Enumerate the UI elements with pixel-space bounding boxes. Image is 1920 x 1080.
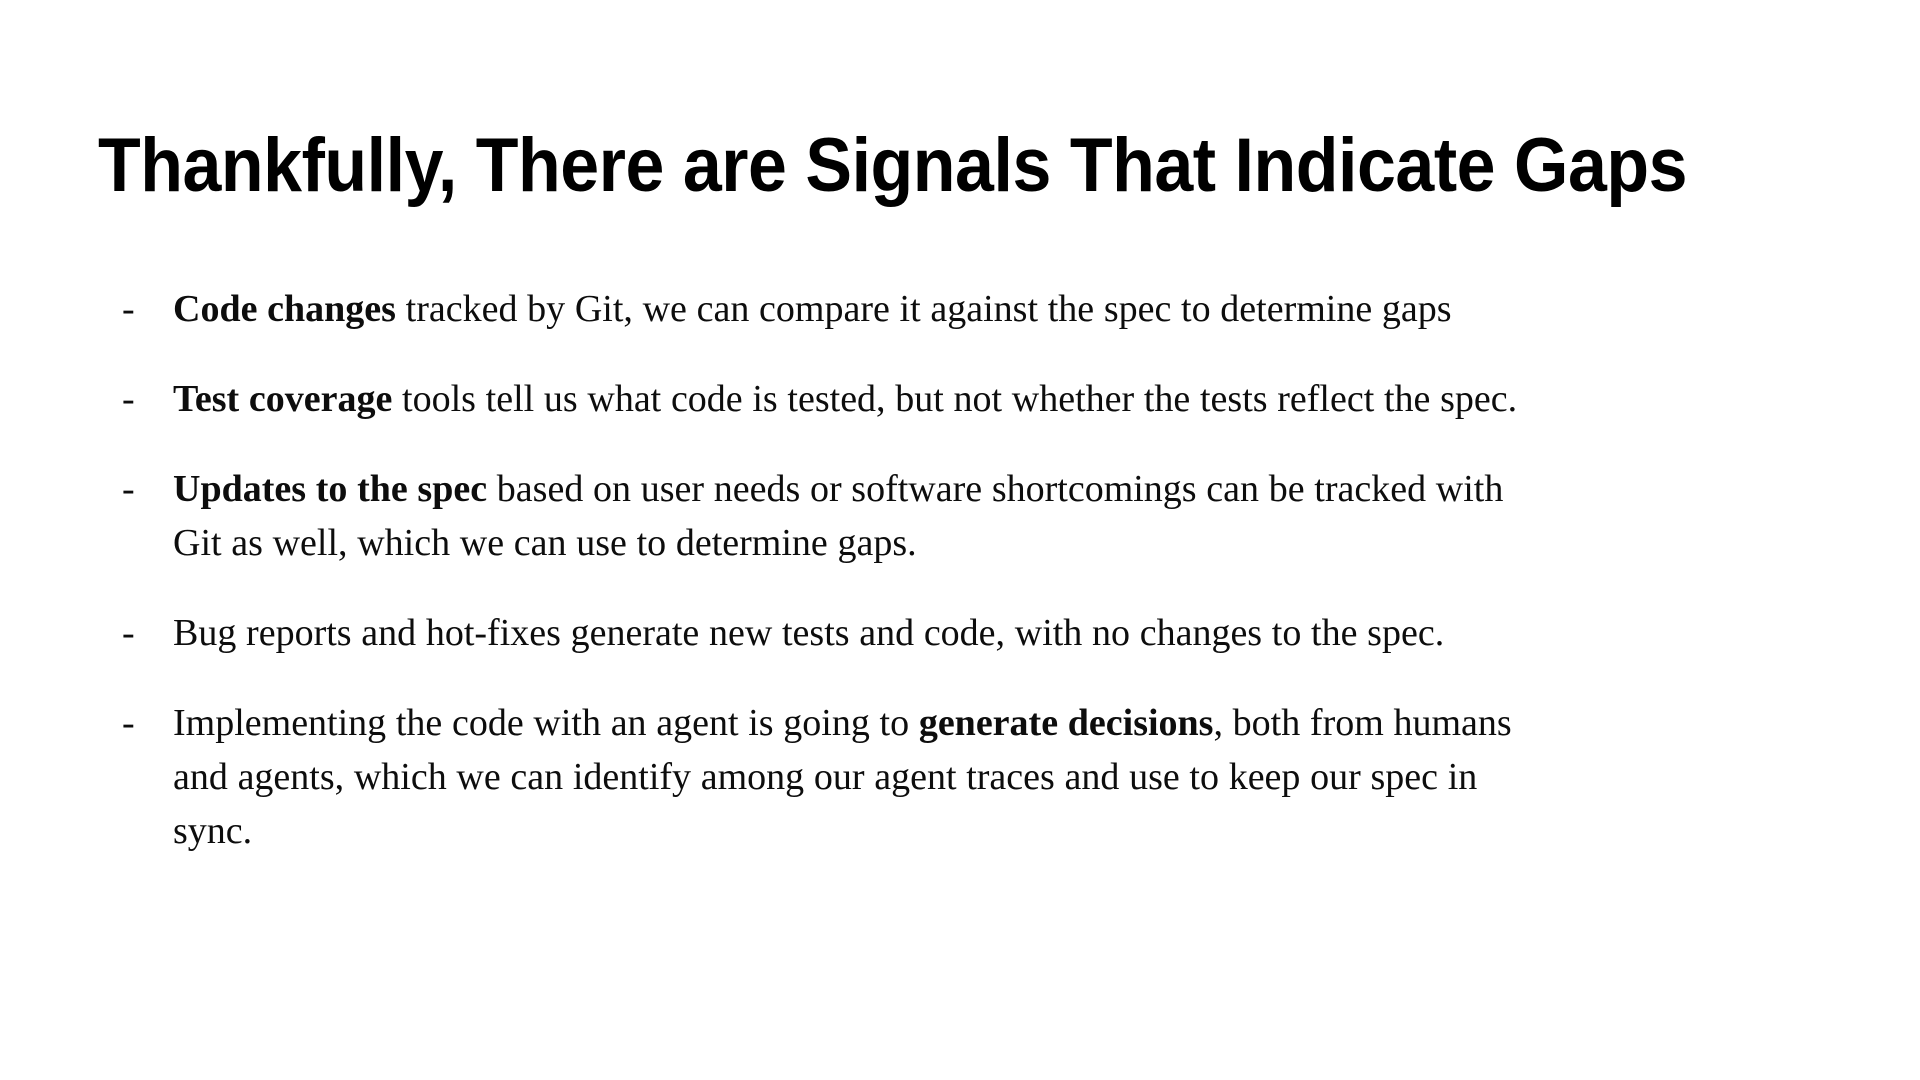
list-item-text: Code changes tracked by Git, we can comp…: [173, 282, 1518, 336]
bullet-dash-icon: -: [120, 282, 173, 336]
list-item-emphasis: generate decisions: [919, 702, 1214, 744]
bullet-list: -Code changes tracked by Git, we can com…: [120, 282, 1820, 858]
bullet-dash-icon: -: [120, 462, 173, 516]
list-item: -Bug reports and hot-fixes generate new …: [120, 606, 1820, 660]
list-item: -Test coverage tools tell us what code i…: [120, 372, 1820, 426]
list-item-text: Test coverage tools tell us what code is…: [173, 372, 1518, 426]
list-item-emphasis: Code changes: [173, 288, 396, 330]
list-item-text: Implementing the code with an agent is g…: [173, 696, 1518, 858]
list-item-run: Bug reports and hot-fixes generate new t…: [173, 612, 1444, 654]
page-title: Thankfully, There are Signals That Indic…: [98, 127, 1680, 205]
list-item: -Implementing the code with an agent is …: [120, 696, 1820, 858]
list-item-emphasis: Updates to the spec: [173, 468, 487, 510]
slide-canvas: Thankfully, There are Signals That Indic…: [0, 0, 1920, 1080]
bullet-dash-icon: -: [120, 372, 173, 426]
list-item-run: Implementing the code with an agent is g…: [173, 702, 919, 744]
list-item: -Updates to the spec based on user needs…: [120, 462, 1820, 570]
bullet-dash-icon: -: [120, 606, 173, 660]
bullet-dash-icon: -: [120, 696, 173, 750]
list-item-run: tools tell us what code is tested, but n…: [392, 378, 1517, 420]
list-item-run: tracked by Git, we can compare it agains…: [396, 288, 1452, 330]
list-item-text: Bug reports and hot-fixes generate new t…: [173, 606, 1518, 660]
list-item: -Code changes tracked by Git, we can com…: [120, 282, 1820, 336]
list-item-emphasis: Test coverage: [173, 378, 392, 420]
list-item-text: Updates to the spec based on user needs …: [173, 462, 1518, 570]
